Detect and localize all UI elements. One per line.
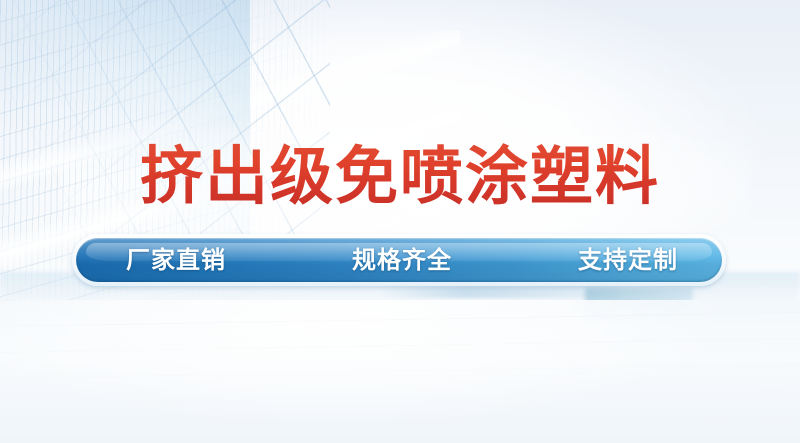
banner-headline: 挤出级免喷涂塑料: [0, 140, 800, 214]
feature-pill: 厂家直销 规格齐全 支持定制: [76, 238, 722, 282]
background-floor-wash: [0, 300, 800, 443]
background-right-glass-lattice: [0, 0, 330, 270]
feature-pill-bar: 厂家直销 规格齐全 支持定制: [72, 234, 726, 286]
feature-item-full-specs: 规格齐全: [352, 245, 452, 275]
background-teal-block: [585, 288, 693, 320]
promo-banner: 挤出级免喷涂塑料 厂家直销 规格齐全 支持定制: [0, 0, 800, 443]
feature-item-factory-direct: 厂家直销: [126, 245, 226, 275]
background-ground-strip: [380, 286, 620, 298]
background-floor-reflection-lines: [0, 300, 800, 443]
background-sky-wash: [0, 0, 800, 443]
feature-item-customization: 支持定制: [578, 245, 678, 275]
